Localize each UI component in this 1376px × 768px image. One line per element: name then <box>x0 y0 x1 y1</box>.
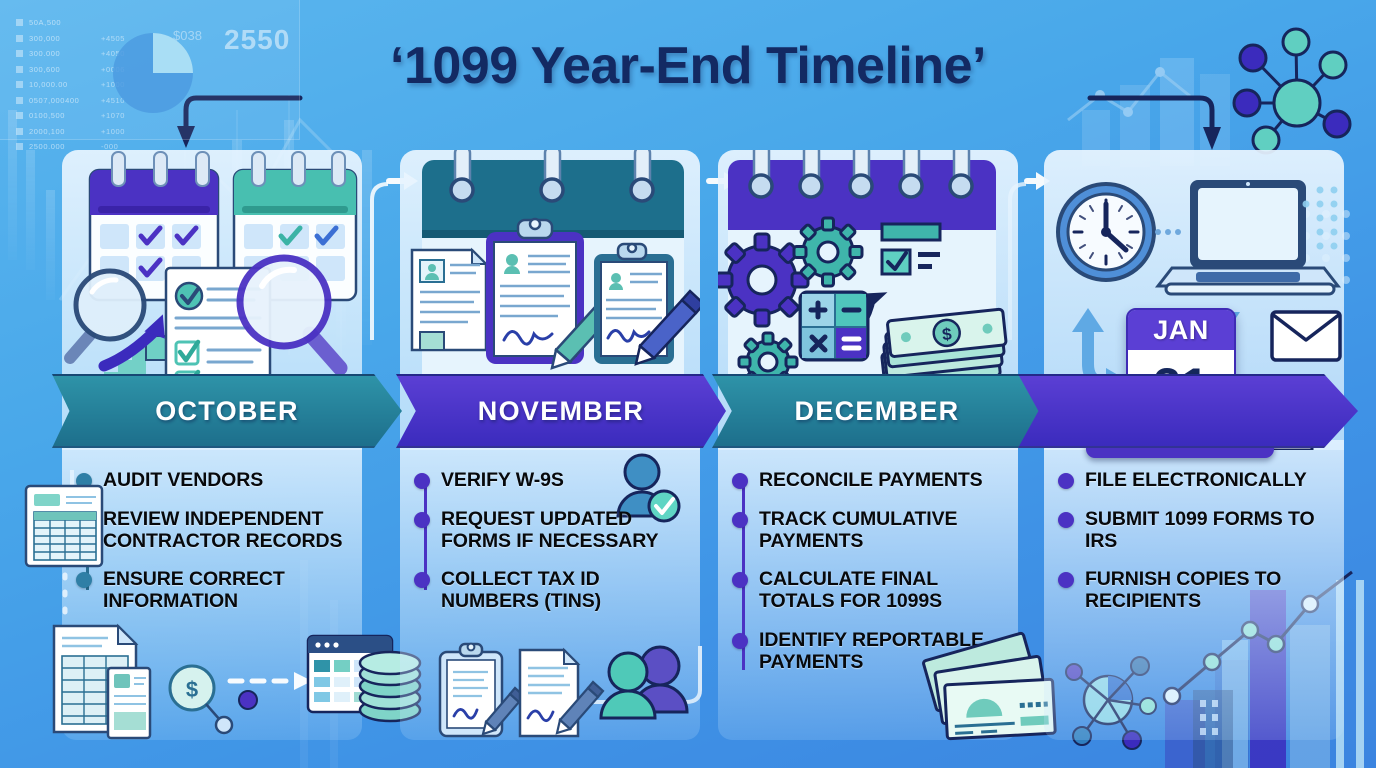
list-item: CALCULATE FINAL TOTALS FOR 1099s <box>732 569 1004 613</box>
bullet-text: FILE ELECTRONICALLY <box>1085 470 1307 492</box>
list-item: TRACK CUMULATIVE PAYMENTS <box>732 509 1004 553</box>
calculator-icon <box>800 292 868 360</box>
bullet-text: FURNISH COPIES TO RECIPIENTS <box>1085 569 1330 613</box>
deadline-month: JAN <box>1128 310 1234 350</box>
list-item: COLLECT TAX ID NUMBERS (TINs) <box>414 569 686 613</box>
document-table-icon <box>54 626 150 738</box>
table-value: 0507,000400 <box>29 96 95 105</box>
bullet-dot <box>732 512 748 528</box>
id-document-icon <box>412 250 486 350</box>
list-item: RECONCILE PAYMENTS <box>732 470 1004 492</box>
spreadsheet-icon <box>26 486 102 566</box>
bullet-dot <box>732 572 748 588</box>
envelope-icon <box>1272 312 1340 360</box>
bullet-dot <box>1058 512 1074 528</box>
list-item: REQUEST UPDATED FORMS IF NECESSARY <box>414 509 686 553</box>
timeline-step-november[interactable]: NOVEMBER <box>396 374 726 448</box>
bullet-dot <box>732 633 748 649</box>
user-group-icon <box>601 647 687 718</box>
table-delta: +1000 <box>101 127 125 136</box>
january-bullet-list: FILE ELECTRONICALLY SUBMIT 1099 FORMS TO… <box>1058 470 1330 630</box>
bullet-dot <box>1058 572 1074 588</box>
clock-icon <box>1058 184 1154 280</box>
bullet-dot <box>414 512 430 528</box>
svg-text:$: $ <box>186 677 198 702</box>
bullet-dot <box>414 473 430 489</box>
table-value: 50A,500 <box>29 18 95 27</box>
bullet-text: CALCULATE FINAL TOTALS FOR 1099s <box>759 569 1004 613</box>
bullet-text: REQUEST UPDATED FORMS IF NECESSARY <box>441 509 686 553</box>
dollar-coin-icon: $ <box>170 666 257 733</box>
bullet-dot <box>414 572 430 588</box>
bullet-text: VERIFY W-9s <box>441 470 564 492</box>
table-delta: +1070 <box>101 111 125 120</box>
list-item: VERIFY W-9s <box>414 470 686 492</box>
bullet-text: SUBMIT 1099 FORMS TO IRS <box>1085 509 1330 553</box>
timeline-step-december[interactable]: DECEMBER <box>712 374 1042 448</box>
list-item: SUBMIT 1099 FORMS TO IRS <box>1058 509 1330 553</box>
bullet-text: COLLECT TAX ID NUMBERS (TINs) <box>441 569 686 613</box>
timeline-step-october[interactable]: OCTOBER <box>52 374 402 448</box>
list-item: FURNISH COPIES TO RECIPIENTS <box>1058 569 1330 613</box>
table-delta: +4510 <box>101 96 125 105</box>
infographic-canvas: 50A,500 300,000+4505 300.000+4050 300,60… <box>0 0 1376 768</box>
timeline-chevron-band: OCTOBER NOVEMBER DECEMBER <box>0 374 1376 448</box>
october-bottom-illustration: $ <box>8 478 428 768</box>
bullet-text: RECONCILE PAYMENTS <box>759 470 983 492</box>
laptop-icon <box>1158 180 1338 294</box>
table-value: 0100,500 <box>29 111 95 120</box>
table-marker <box>16 143 23 150</box>
list-item: FILE ELECTRONICALLY <box>1058 470 1330 492</box>
table-value: 2000,100 <box>29 127 95 136</box>
table-marker <box>16 128 23 135</box>
bullet-dot <box>1058 473 1074 489</box>
table-marker <box>16 112 23 119</box>
bullet-dot <box>732 473 748 489</box>
bullet-text: TRACK CUMULATIVE PAYMENTS <box>759 509 1004 553</box>
page-title: ‘1099 Year-End Timeline’ <box>0 36 1376 96</box>
timeline-step-january[interactable] <box>1018 374 1358 448</box>
table-marker <box>16 19 23 26</box>
november-bullet-list: VERIFY W-9s REQUEST UPDATED FORMS IF NEC… <box>414 470 686 630</box>
table-marker <box>16 97 23 104</box>
november-bottom-illustration <box>420 628 720 768</box>
